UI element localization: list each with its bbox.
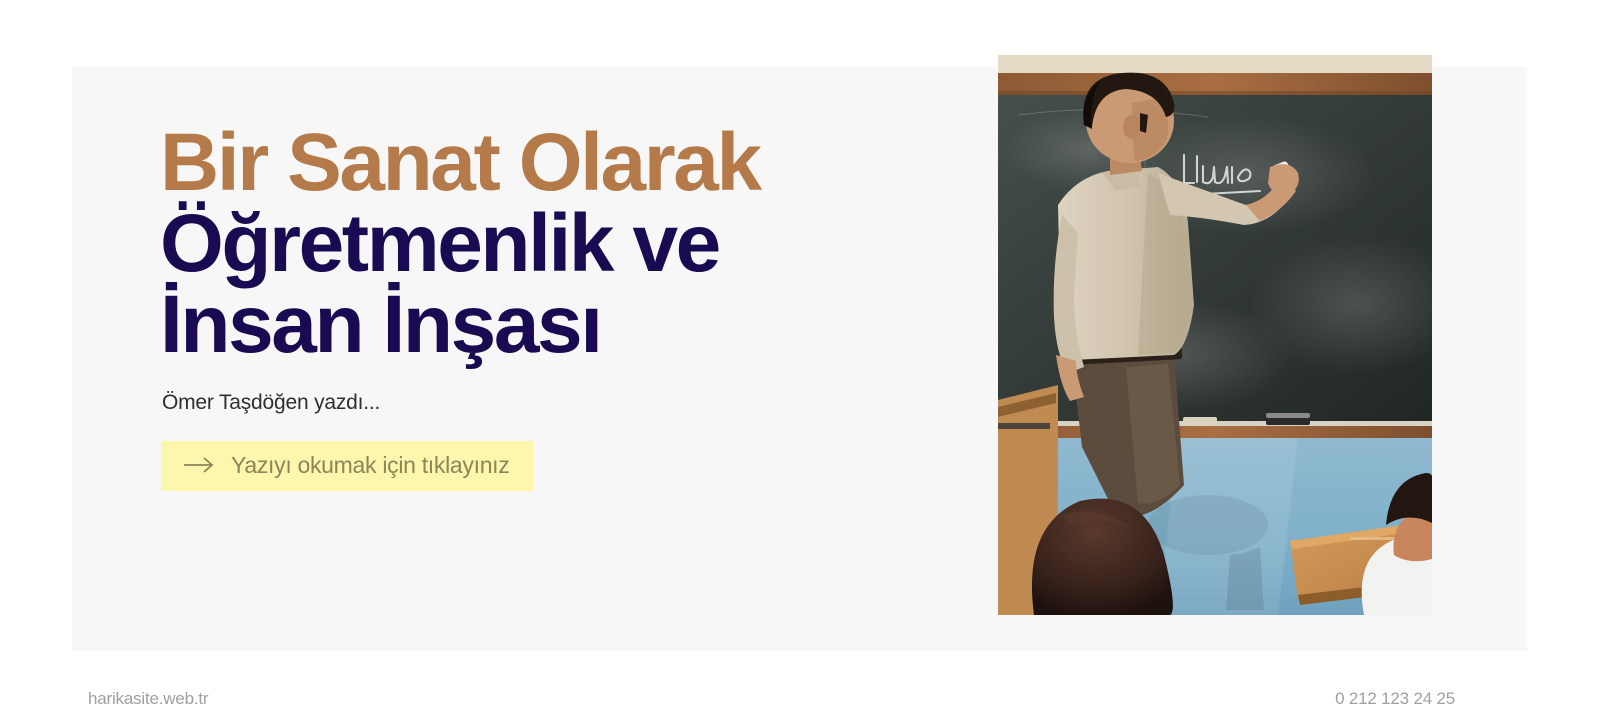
arrow-right-icon: [183, 455, 217, 475]
site-footer: harikasite.web.tr 0 212 123 24 25: [0, 680, 1600, 727]
hero-card: Bir Sanat Olarak Öğretmenlik ve İnsan İn…: [72, 67, 1527, 651]
footer-domain[interactable]: harikasite.web.tr: [88, 689, 208, 709]
footer-phone[interactable]: 0 212 123 24 25: [1335, 689, 1455, 709]
headline-line-3: İnsan İnşası: [160, 284, 980, 365]
author-byline: Ömer Taşdöğen yazdı...: [162, 389, 980, 416]
hero-text-block: Bir Sanat Olarak Öğretmenlik ve İnsan İn…: [160, 122, 980, 491]
read-article-button[interactable]: Yazıyı okumak için tıklayınız: [161, 441, 533, 491]
read-article-button-label: Yazıyı okumak için tıklayınız: [231, 454, 509, 477]
headline-line-1: Bir Sanat Olarak: [160, 122, 980, 203]
headline-line-2: Öğretmenlik ve: [160, 203, 980, 284]
page-title: Bir Sanat Olarak Öğretmenlik ve İnsan İn…: [160, 122, 980, 366]
classroom-photo: [998, 55, 1432, 615]
